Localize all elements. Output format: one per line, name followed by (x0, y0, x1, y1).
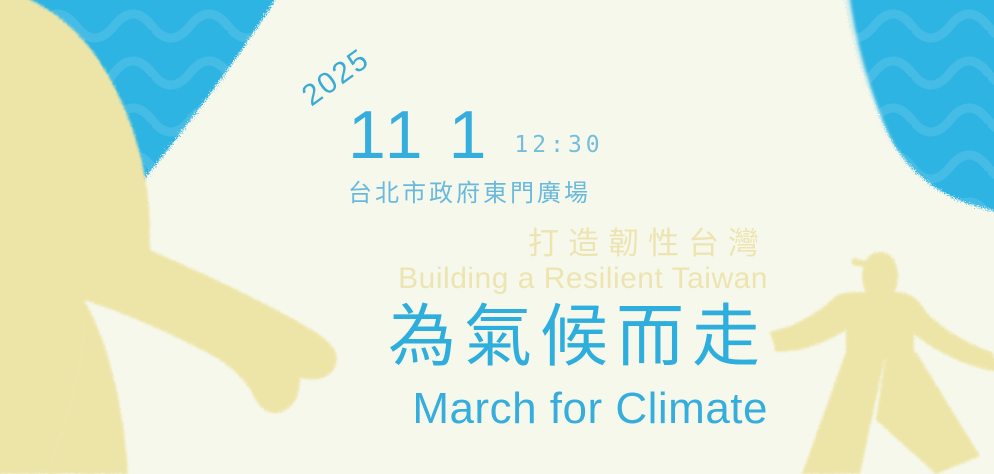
title-english: March for Climate (412, 387, 768, 431)
event-time: 12:30 (514, 132, 603, 158)
event-month: 11 (348, 104, 427, 167)
event-venue: 台北市政府東門廣場 (348, 173, 591, 208)
event-dateline: 11 1 12:30 (348, 104, 604, 167)
subtitle-chinese: 打造韌性台灣 (528, 218, 768, 263)
title-chinese: 為氣候而走 (388, 303, 768, 371)
climate-march-poster: 2025 11 1 12:30 台北市政府東門廣場 打造韌性台灣 Buildin… (0, 0, 994, 474)
event-day: 1 (449, 104, 489, 167)
poster-content: 2025 11 1 12:30 台北市政府東門廣場 打造韌性台灣 Buildin… (0, 0, 994, 474)
subtitle-english: Building a Resilient Taiwan (398, 262, 768, 296)
